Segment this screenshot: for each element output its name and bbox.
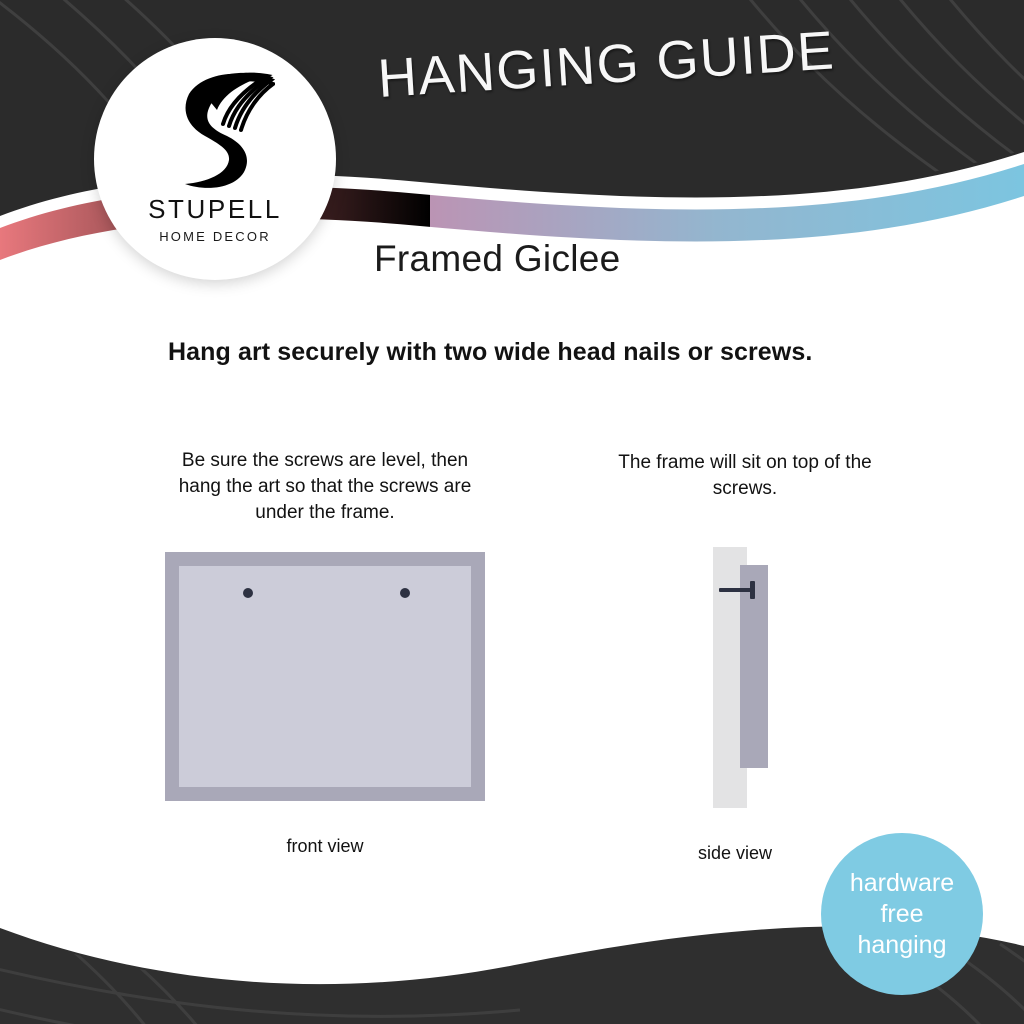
screw-dot-right-icon <box>400 588 410 598</box>
hardware-free-hanging-badge: hardware free hanging <box>821 833 983 995</box>
front-view-caption: Be sure the screws are level, then hang … <box>160 448 490 526</box>
hanging-guide-page: STUPELL HOME DECOR HANGING GUIDE Framed … <box>0 0 1024 1024</box>
nail-shaft-icon <box>719 588 754 592</box>
lead-instruction: Hang art securely with two wide head nai… <box>168 338 812 367</box>
brand-name: STUPELL <box>148 194 282 225</box>
badge-line-2: free <box>880 899 923 930</box>
product-type-subtitle: Framed Giclee <box>374 238 621 280</box>
side-view-caption: The frame will sit on top of the screws. <box>600 450 890 502</box>
side-view-label: side view <box>638 843 832 864</box>
badge-line-1: hardware <box>850 868 954 899</box>
front-view-frame-diagram <box>165 552 485 801</box>
brand-logo-badge: STUPELL HOME DECOR <box>94 38 336 280</box>
brand-tagline: HOME DECOR <box>159 229 271 244</box>
screw-dot-left-icon <box>243 588 253 598</box>
front-view-label: front view <box>225 836 425 857</box>
front-view-frame-inner <box>179 566 471 787</box>
nail-head-icon <box>750 581 755 599</box>
stupell-swoosh-logo-icon <box>155 64 275 192</box>
badge-line-3: hanging <box>858 930 947 961</box>
page-title: HANGING GUIDE <box>376 19 837 110</box>
